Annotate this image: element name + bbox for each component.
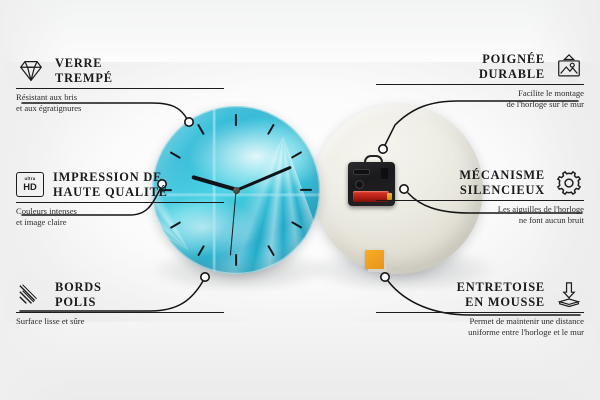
product-infographic-canvas: VERRE TREMPÉ Résistant aux bris et aux é… [0,0,600,400]
feature-titles: IMPRESSION DE HAUTE QUALITÉ [53,170,168,199]
feature-impression-haute-qualite[interactable]: ultra HD IMPRESSION DE HAUTE QUALITÉ Cou… [16,170,224,228]
marker-verre-trempe [185,118,193,126]
feature-subtitle-line1: Les aiguilles de l'horloge [376,204,584,215]
feature-underline [376,200,584,201]
ultra-hd-large-text: HD [23,182,37,192]
feature-subtitle-line1: Résistant aux bris [16,92,224,103]
feature-header: MÉCANISME SILENCIEUX [376,168,584,197]
feature-title-line2: EN MOUSSE [376,295,545,310]
feature-subtitle-line2: uniforme entre l'horloge et le mur [376,327,584,338]
feature-title-line2: TREMPÉ [55,71,113,86]
feature-titles: ENTRETOISE EN MOUSSE [376,280,545,309]
feature-title-line1: POIGNÉE [376,52,545,67]
feature-underline [16,202,224,203]
diamond-icon [16,57,46,85]
feature-title-line2: POLIS [55,295,102,310]
feature-poignee-durable[interactable]: POIGNÉE DURABLE Facilite le montage de l… [376,52,584,110]
feature-title-line1: VERRE [55,56,113,71]
feature-header: ENTRETOISE EN MOUSSE [376,280,584,309]
feature-underline [376,312,584,313]
feature-header: ultra HD IMPRESSION DE HAUTE QUALITÉ [16,170,224,199]
marker-poignee [379,145,387,153]
feature-subtitle-line2: de l'horloge sur le mur [376,99,584,110]
feature-title-line2: DURABLE [376,67,545,82]
feature-entretoise-en-mousse[interactable]: ENTRETOISE EN MOUSSE Permet de maintenir… [376,280,584,338]
polished-edge-lines-icon [16,281,46,309]
feature-underline [376,84,584,85]
feature-subtitle-line2: et image claire [16,217,224,228]
feature-titles: BORDS POLIS [55,280,102,309]
feature-subtitle-line1: Permet de maintenir une distance [376,316,584,327]
feature-titles: POIGNÉE DURABLE [376,52,545,81]
gear-icon [554,169,584,197]
feature-titles: MÉCANISME SILENCIEUX [376,168,545,197]
feature-title-line1: BORDS [55,280,102,295]
feature-underline [16,88,224,89]
feature-title-line1: IMPRESSION DE [53,170,168,185]
feature-subtitle-line1: Couleurs intenses [16,206,224,217]
feature-subtitle-line2: ne font aucun bruit [376,215,584,226]
feature-header: VERRE TREMPÉ [16,56,224,85]
feature-title-line2: HAUTE QUALITÉ [53,185,168,200]
feature-header: POIGNÉE DURABLE [376,52,584,81]
press-down-foam-icon [554,281,584,309]
feature-title-line2: SILENCIEUX [376,183,545,198]
feature-header: BORDS POLIS [16,280,224,309]
ultra-hd-badge-icon: ultra HD [16,172,44,197]
feature-subtitle-line1: Surface lisse et sûre [16,316,224,327]
feature-subtitle-line2: et aux égratignures [16,103,224,114]
feature-underline [16,312,224,313]
hanging-picture-frame-icon [554,53,584,81]
feature-title-line1: MÉCANISME [376,168,545,183]
feature-title-line1: ENTRETOISE [376,280,545,295]
feature-bords-polis[interactable]: BORDS POLIS Surface lisse et sûre [16,280,224,327]
feature-mecanisme-silencieux[interactable]: MÉCANISME SILENCIEUX Les aiguilles de l'… [376,168,584,226]
feature-subtitle-line1: Facilite le montage [376,88,584,99]
feature-titles: VERRE TREMPÉ [55,56,113,85]
feature-verre-trempe[interactable]: VERRE TREMPÉ Résistant aux bris et aux é… [16,56,224,114]
